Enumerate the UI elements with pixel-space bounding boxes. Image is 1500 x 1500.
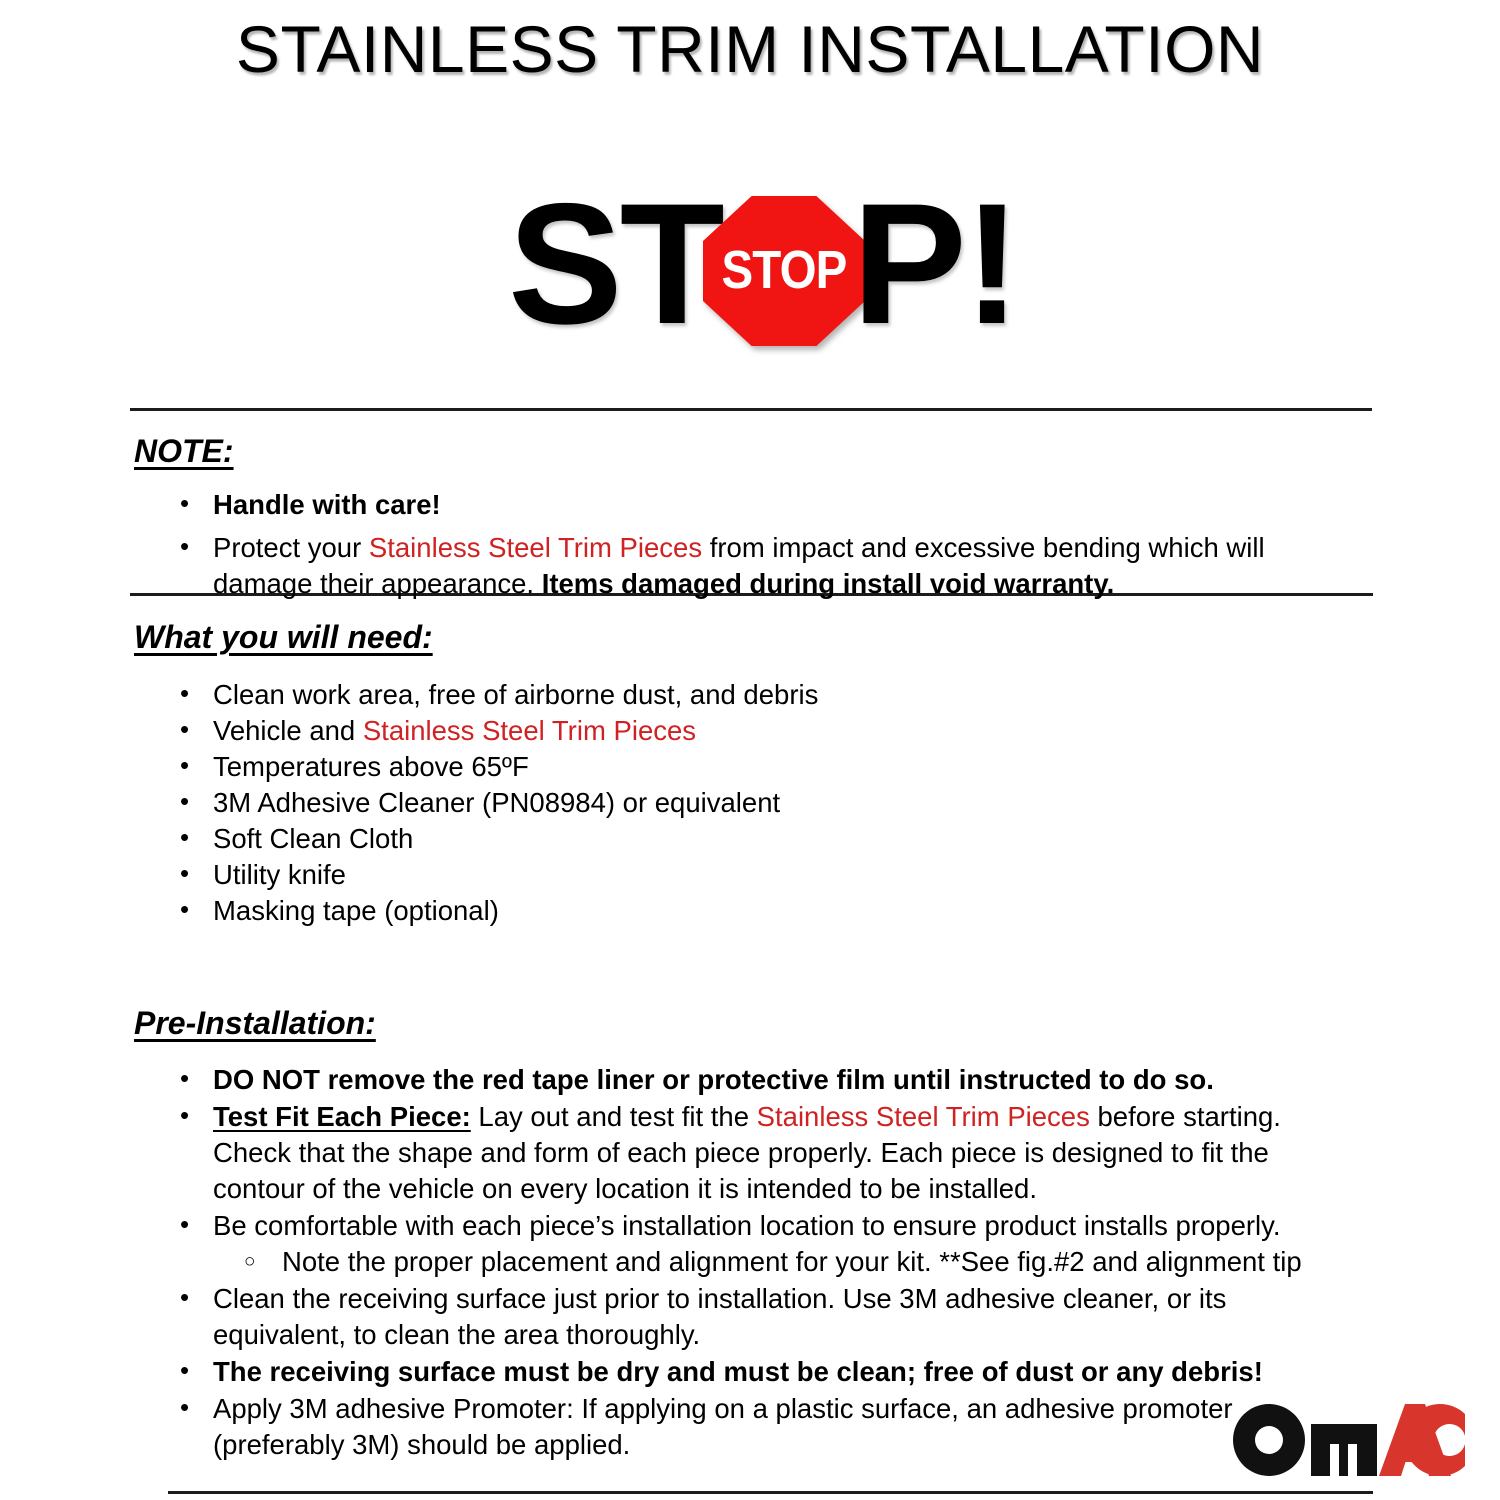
omac-letter-m — [1311, 1424, 1377, 1476]
list-item-text: Clean work area, free of airborne dust, … — [213, 679, 818, 710]
list-item-text: Masking tape (optional) — [213, 895, 499, 926]
list-item-text: Handle with care! — [213, 489, 441, 520]
list-item: Note the proper placement and alignment … — [178, 1244, 1338, 1280]
pre-installation-list: DO NOT remove the red tape liner or prot… — [178, 1062, 1338, 1463]
list-item-text: Apply 3M adhesive Promoter: If applying … — [213, 1393, 1233, 1460]
list-item-text: Temperatures above 65ºF — [213, 751, 529, 782]
list-item-text: Stainless Steel Trim Pieces — [369, 532, 702, 563]
page-title: STAINLESS TRIM INSTALLATION — [0, 6, 1500, 92]
list-item-text: Be comfortable with each piece’s install… — [213, 1210, 1280, 1241]
divider-bottom — [168, 1491, 1373, 1494]
section-heading-pre-installation: Pre-Installation: — [134, 1004, 376, 1042]
list-item: DO NOT remove the red tape liner or prot… — [178, 1062, 1338, 1098]
list-item-text: The receiving surface must be dry and mu… — [213, 1356, 1263, 1387]
omac-letter-o — [1233, 1404, 1305, 1476]
list-item: Protect your Stainless Steel Trim Pieces… — [178, 530, 1298, 602]
list-item-text: Stainless Steel Trim Pieces — [757, 1101, 1090, 1132]
list-item-text: Lay out and test fit the — [471, 1101, 757, 1132]
what-you-will-need-list: Clean work area, free of airborne dust, … — [178, 677, 1278, 929]
list-item: Masking tape (optional) — [178, 893, 1278, 929]
section-heading-what-you-will-need: What you will need: — [134, 618, 433, 656]
list-item: Temperatures above 65ºF — [178, 749, 1278, 785]
note-list: Handle with care!Protect your Stainless … — [178, 487, 1298, 602]
list-item: Be comfortable with each piece’s install… — [178, 1208, 1338, 1244]
list-item-text: Protect your — [213, 532, 369, 563]
list-item: Soft Clean Cloth — [178, 821, 1278, 857]
list-item-text: Items damaged during install void warran… — [542, 568, 1115, 599]
list-item: Vehicle and Stainless Steel Trim Pieces — [178, 713, 1278, 749]
list-item-text: Note the proper placement and alignment … — [282, 1246, 1302, 1277]
list-item: Handle with care! — [178, 487, 1298, 523]
omac-logo-mark — [1233, 1404, 1465, 1478]
list-item-text: 3M Adhesive Cleaner (PN08984) or equival… — [213, 787, 780, 818]
list-item: The receiving surface must be dry and mu… — [178, 1354, 1338, 1390]
stop-logo: ST STOP P! — [0, 170, 1500, 370]
stop-sign-icon: STOP — [703, 196, 865, 346]
stop-logo-right-letters: P! — [852, 178, 1018, 350]
list-item: Clean work area, free of airborne dust, … — [178, 677, 1278, 713]
stop-sign-label: STOP — [713, 196, 856, 346]
list-item-text: Test Fit Each Piece: — [213, 1101, 471, 1132]
list-item-text: DO NOT remove the red tape liner or prot… — [213, 1064, 1214, 1095]
list-item-text: Vehicle and — [213, 715, 363, 746]
omac-logo — [1233, 1404, 1465, 1478]
list-item-text: Soft Clean Cloth — [213, 823, 413, 854]
list-item-text: Clean the receiving surface just prior t… — [213, 1283, 1226, 1350]
stop-logo-left-letters: ST — [508, 178, 722, 350]
list-item: Test Fit Each Piece: Lay out and test fi… — [178, 1099, 1338, 1207]
list-item-text: Stainless Steel Trim Pieces — [363, 715, 696, 746]
list-item: Utility knife — [178, 857, 1278, 893]
list-item-text: Utility knife — [213, 859, 346, 890]
list-item: Apply 3M adhesive Promoter: If applying … — [178, 1391, 1338, 1463]
section-heading-note: NOTE: — [134, 432, 234, 470]
divider-top — [130, 408, 1372, 411]
list-item: Clean the receiving surface just prior t… — [178, 1281, 1338, 1353]
list-item: 3M Adhesive Cleaner (PN08984) or equival… — [178, 785, 1278, 821]
